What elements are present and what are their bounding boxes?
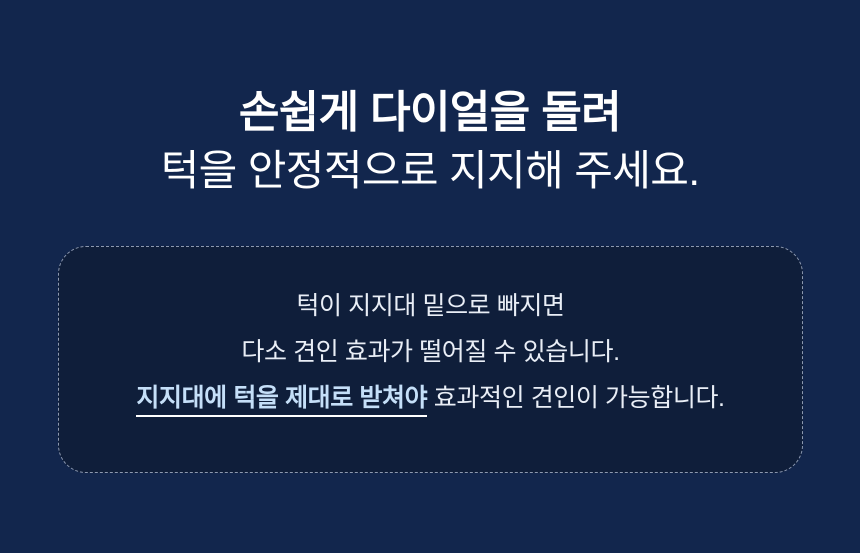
note-line-3-rest: 효과적인 견인이 가능합니다. (427, 384, 724, 412)
note-box: 턱이 지지대 밑으로 빠지면 다소 견인 효과가 떨어질 수 있습니다. 지지대… (58, 246, 803, 473)
note-line-1: 턱이 지지대 밑으로 빠지면 (59, 283, 802, 329)
headline-block: 손쉽게 다이얼을 돌려 턱을 안정적으로 지지해 주세요. (0, 84, 860, 200)
note-line-2: 다소 견인 효과가 떨어질 수 있습니다. (59, 329, 802, 375)
note-line-3: 지지대에 턱을 제대로 받쳐야 효과적인 견인이 가능합니다. (59, 375, 802, 421)
headline-line-2: 턱을 안정적으로 지지해 주세요. (0, 142, 860, 200)
note-body: 턱이 지지대 밑으로 빠지면 다소 견인 효과가 떨어질 수 있습니다. 지지대… (59, 283, 802, 421)
headline-line-1: 손쉽게 다이얼을 돌려 (0, 84, 860, 142)
note-emphasis-text: 지지대에 턱을 제대로 받쳐야 (136, 384, 427, 417)
promo-banner: 손쉽게 다이얼을 돌려 턱을 안정적으로 지지해 주세요. 턱이 지지대 밑으로… (0, 0, 860, 553)
